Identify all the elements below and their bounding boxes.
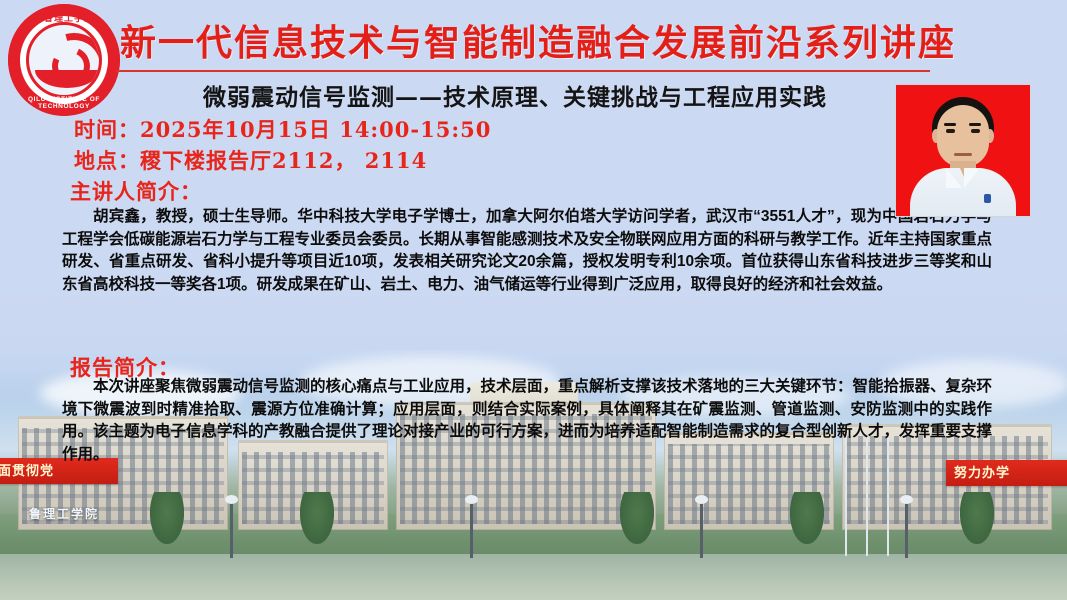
lecture-time: 时间：2025年10月15日 14:00-15:50 [74,114,491,144]
portrait-face [937,105,989,167]
portrait-eyebrow-left [944,123,956,126]
portrait-shirt [910,168,1016,216]
tree-shape [620,492,654,544]
portrait-mouth [954,153,972,156]
portrait-eyebrow-right [969,123,981,126]
university-logo: 齐鲁理工学院 QILU INSTITUTE OF TECHNOLOGY [8,4,120,116]
tree-shape [300,492,334,544]
logo-english-name: QILU INSTITUTE OF TECHNOLOGY [8,96,120,110]
speaker-section-body: 胡宾鑫，教授，硕士生导师。华中科技大学电子学博士，加拿大阿尔伯塔大学访问学者，武… [62,206,992,296]
poster-sub-title: 微弱震动信号监测——技术原理、关键挑战与工程应用实践 [120,78,910,112]
street-lamp [905,502,908,558]
street-lamp [470,502,473,558]
portrait-collar-right [964,168,980,188]
portrait-collar-left [946,168,962,188]
tree-shape [150,492,184,544]
portrait-pocket-pen [984,194,991,203]
tree-shape [790,492,824,544]
street-lamp [230,502,233,558]
report-section-body: 本次讲座聚焦微弱震动信号监测的核心痛点与工业应用，技术层面，重点解析支撑该技术落… [62,376,992,466]
speaker-section-heading: 主讲人简介： [70,176,202,206]
tree-shape [960,492,994,544]
portrait-eye-left [946,129,955,133]
street-lamp [700,502,703,558]
portrait-eye-right [971,129,980,133]
title-divider-rule [116,70,930,72]
campus-plaza [0,554,1067,600]
poster-main-title: 新一代信息技术与智能制造融合发展前沿系列讲座 [120,14,930,66]
speaker-portrait-photo [895,84,1031,217]
campus-sign-text: 鲁理工学院 [18,507,110,522]
lecture-location: 地点：稷下楼报告厅2112， 2114 [74,145,427,175]
lecture-poster: 鲁理工学院 面贯彻党 努力办学 齐鲁理工学院 QILU INSTITUTE OF… [0,0,1067,600]
